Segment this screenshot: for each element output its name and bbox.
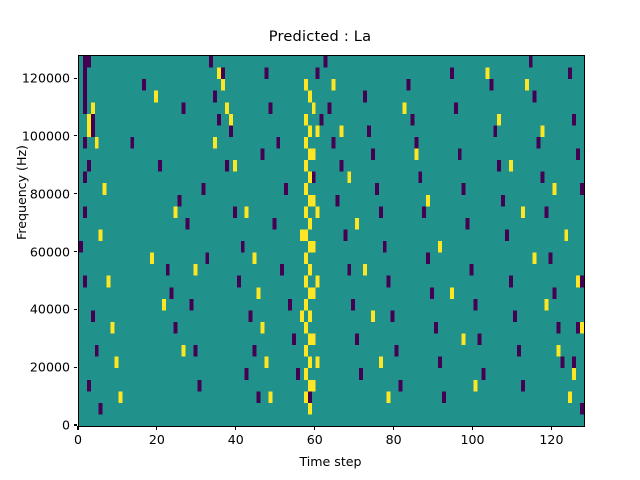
y-tick-label: 60000 [0, 244, 70, 259]
x-tick-mark [235, 426, 236, 430]
x-tick-label: 60 [307, 432, 323, 447]
page-title: Predicted : La [0, 28, 640, 45]
matplotlib-figure: Predicted : La 020406080100120 020000400… [0, 0, 640, 480]
x-tick-label: 120 [539, 432, 563, 447]
y-tick-mark [74, 193, 78, 194]
x-tick-mark [551, 426, 552, 430]
spectrogram-heatmap [79, 56, 584, 426]
heatmap-plot-area [78, 55, 585, 427]
x-tick-mark [77, 426, 78, 430]
y-tick-label: 20000 [0, 360, 70, 375]
x-tick-label: 20 [149, 432, 165, 447]
y-tick-label: 100000 [0, 128, 70, 143]
x-tick-label: 100 [461, 432, 485, 447]
y-tick-mark [74, 367, 78, 368]
y-tick-mark [74, 309, 78, 310]
x-tick-label: 80 [386, 432, 402, 447]
x-axis-label: Time step [78, 454, 583, 469]
y-tick-label: 80000 [0, 186, 70, 201]
x-tick-mark [472, 426, 473, 430]
x-tick-mark [314, 426, 315, 430]
y-tick-mark [74, 135, 78, 136]
x-tick-label: 40 [228, 432, 244, 447]
y-tick-mark [74, 424, 78, 425]
y-tick-label: 40000 [0, 302, 70, 317]
y-tick-mark [74, 78, 78, 79]
y-tick-mark [74, 251, 78, 252]
y-axis-label: Frequency (Hz) [14, 145, 29, 240]
x-tick-label: 0 [74, 432, 82, 447]
y-tick-label: 120000 [0, 71, 70, 86]
y-tick-label: 0 [0, 418, 70, 433]
x-tick-mark [156, 426, 157, 430]
x-tick-mark [393, 426, 394, 430]
